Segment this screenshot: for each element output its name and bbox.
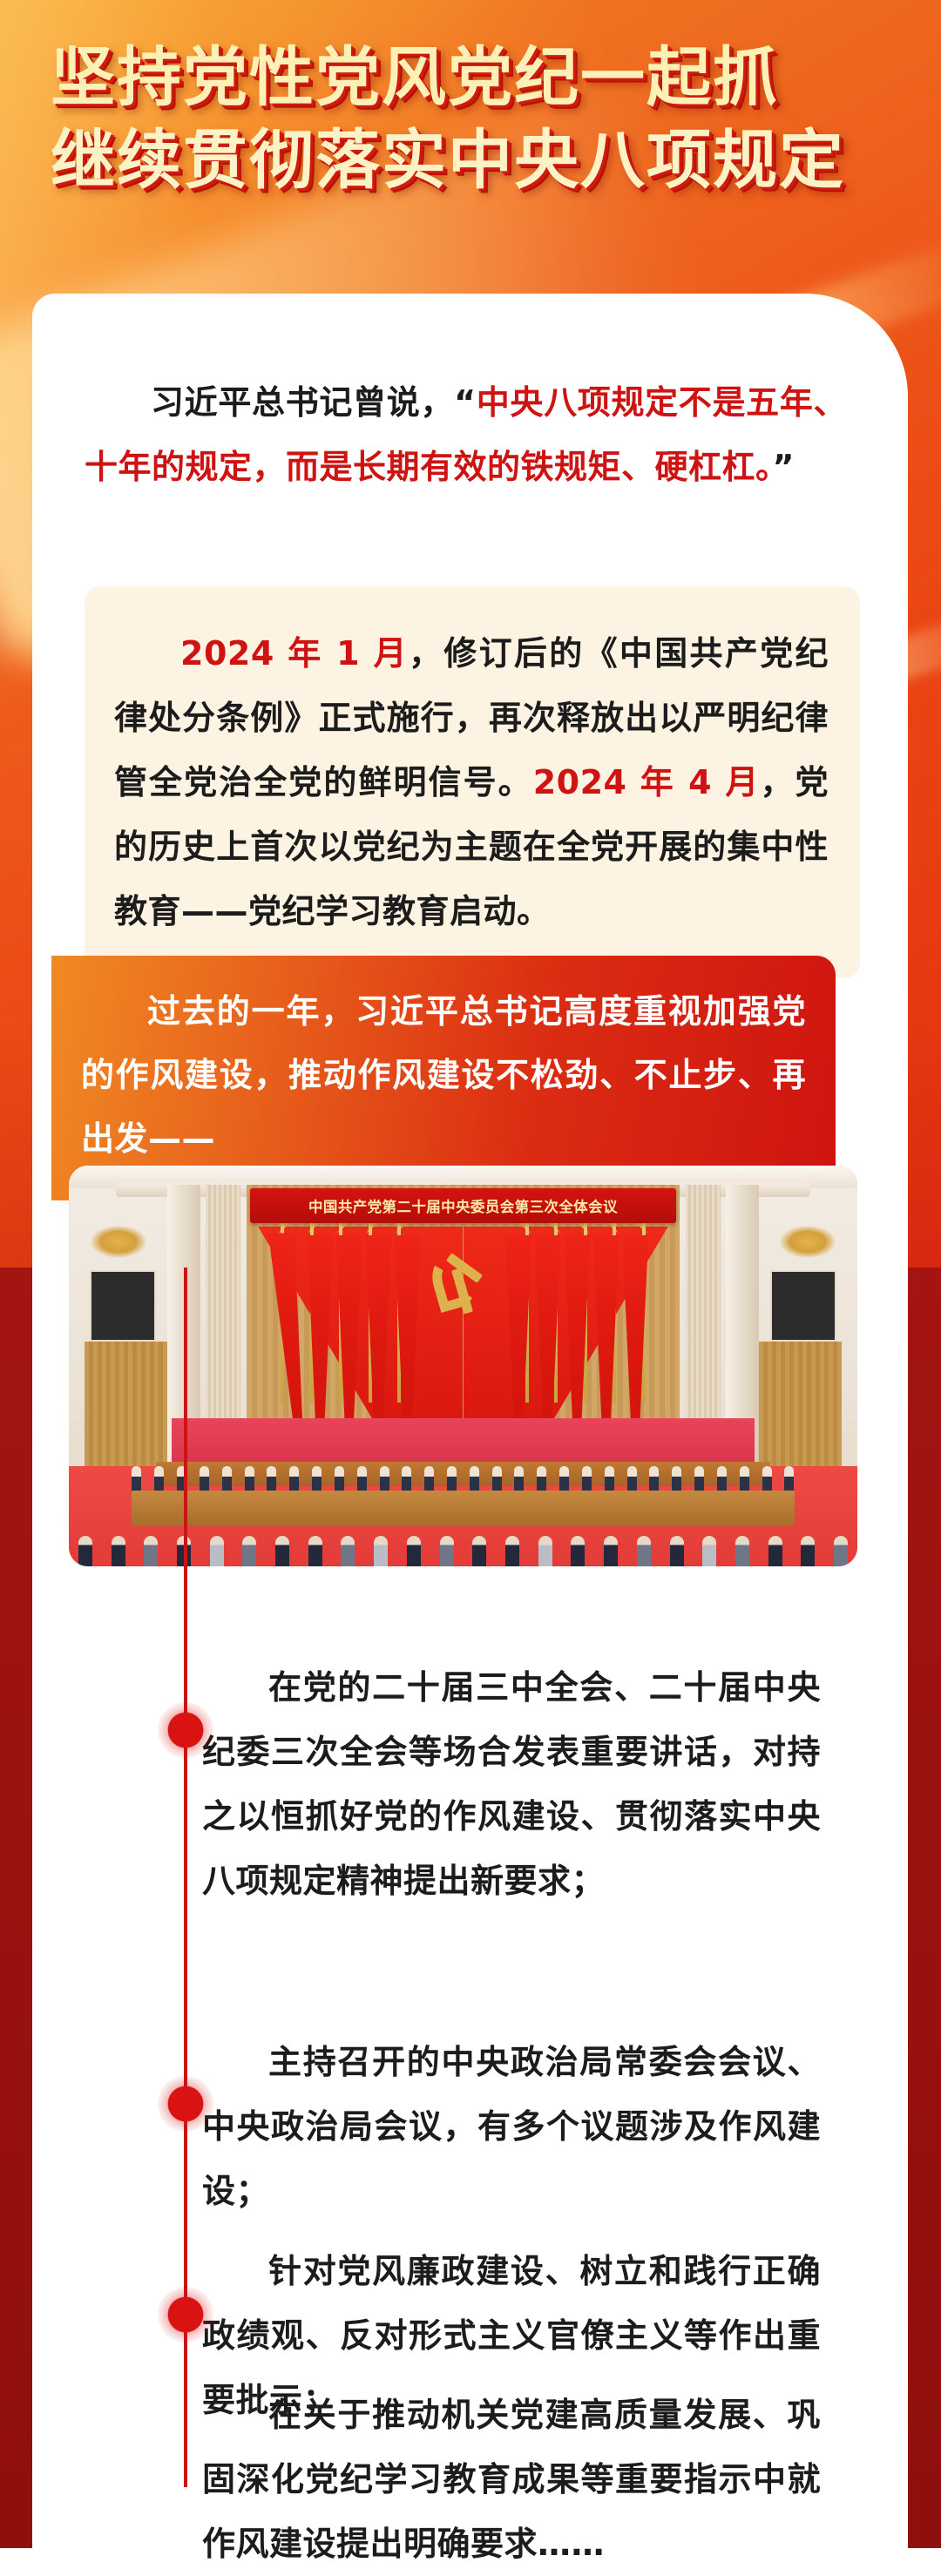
hammer-and-sickle-icon xyxy=(431,1251,496,1322)
timeline-dot-2 xyxy=(158,2076,213,2132)
audience-member xyxy=(670,1536,684,1566)
presidium-desk xyxy=(132,1491,794,1526)
wall-panel-left xyxy=(90,1270,157,1342)
stage-platform xyxy=(172,1418,755,1466)
wall-panel-right xyxy=(770,1270,837,1342)
meeting-banner-text: 中国共产党第二十届中央委员会第三次全体会议 xyxy=(308,1195,618,1216)
audience-member xyxy=(801,1536,815,1566)
highlight-banner: 过去的一年，习近平总书记高度重视加强党的作风建设，推动作风建设不松劲、不止步、再… xyxy=(51,956,836,1200)
highlight-banner-text: 过去的一年，习近平总书记高度重视加强党的作风建设，推动作风建设不松劲、不止步、再… xyxy=(81,980,806,1171)
quote-text: 习近平总书记曾说，“中央八项规定不是五年、十年的规定，而是长期有效的铁规矩、硬杠… xyxy=(85,370,847,499)
audience-member xyxy=(637,1536,651,1566)
cream-date-april: 2024 年 4 月 xyxy=(533,763,761,801)
audience-member xyxy=(538,1536,552,1566)
audience-member xyxy=(374,1536,388,1566)
audience-member xyxy=(472,1536,486,1566)
left-rail xyxy=(0,1268,32,2548)
title-line-2: 继续贯彻落实中央八项规定 xyxy=(51,119,941,202)
timeline-dot-1 xyxy=(158,1702,213,1758)
title-line-1: 坚持党性党风党纪一起抓 xyxy=(51,37,941,119)
list-item-text: 在关于推动机关党建高质量发展、巩固深化党纪学习教育成果等重要指示中就作风建设提出… xyxy=(202,2383,821,2576)
cream-box-text: 2024 年 1 月，修订后的《中国共产党纪律处分条例》正式施行，再次释放出以严… xyxy=(114,621,829,943)
list-item-text: 在党的二十届三中全会、二十届中央纪委三次全会等场合发表重要讲话，对持之以恒抓好党… xyxy=(202,1655,821,1913)
audience-member xyxy=(210,1536,224,1566)
timeline-dot-3 xyxy=(158,2287,213,2343)
audience-member xyxy=(834,1536,848,1566)
audience-member xyxy=(341,1536,355,1566)
audience-member xyxy=(407,1536,421,1566)
audience-member xyxy=(505,1536,519,1566)
gold-ornament-left-icon xyxy=(91,1226,146,1258)
audience-member xyxy=(275,1536,289,1566)
audience-member xyxy=(735,1536,749,1566)
audience-member xyxy=(440,1536,454,1566)
cream-date-january: 2024 年 1 月 xyxy=(180,634,409,673)
gold-ornament-right-icon xyxy=(780,1226,835,1258)
meeting-banner: 中国共产党第二十届中央委员会第三次全体会议 xyxy=(250,1188,676,1223)
timeline-info-box: 2024 年 1 月，修订后的《中国共产党纪律处分条例》正式施行，再次释放出以严… xyxy=(85,586,860,978)
audience-member xyxy=(144,1536,158,1566)
audience-member xyxy=(768,1536,782,1566)
audience-member xyxy=(571,1536,585,1566)
audience-member xyxy=(604,1536,618,1566)
audience-member xyxy=(242,1536,256,1566)
list-item: 主持召开的中央政治局常委会会议、中央政治局会议，有多个议题涉及作风建设； xyxy=(202,2030,821,2223)
right-rail xyxy=(908,1268,941,2548)
quote-lead: 习近平总书记曾说，“ xyxy=(151,383,477,422)
list-item: 在党的二十届三中全会、二十届中央纪委三次全会等场合发表重要讲话，对持之以恒抓好党… xyxy=(202,1655,821,1913)
quote-paragraph: 习近平总书记曾说，“中央八项规定不是五年、十年的规定，而是长期有效的铁规矩、硬杠… xyxy=(85,370,847,499)
list-item-text: 主持召开的中央政治局常委会会议、中央政治局会议，有多个议题涉及作风建设； xyxy=(202,2030,821,2223)
audience-member xyxy=(112,1536,125,1566)
list-item: 在关于推动机关党建高质量发展、巩固深化党纪学习教育成果等重要指示中就作风建设提出… xyxy=(202,2383,821,2576)
audience-member xyxy=(308,1536,322,1566)
audience-member xyxy=(78,1536,92,1566)
page-title: 坚持党性党风党纪一起抓 继续贯彻落实中央八项规定 xyxy=(0,37,941,202)
audience-member xyxy=(702,1536,716,1566)
quote-close: ” xyxy=(773,448,795,486)
